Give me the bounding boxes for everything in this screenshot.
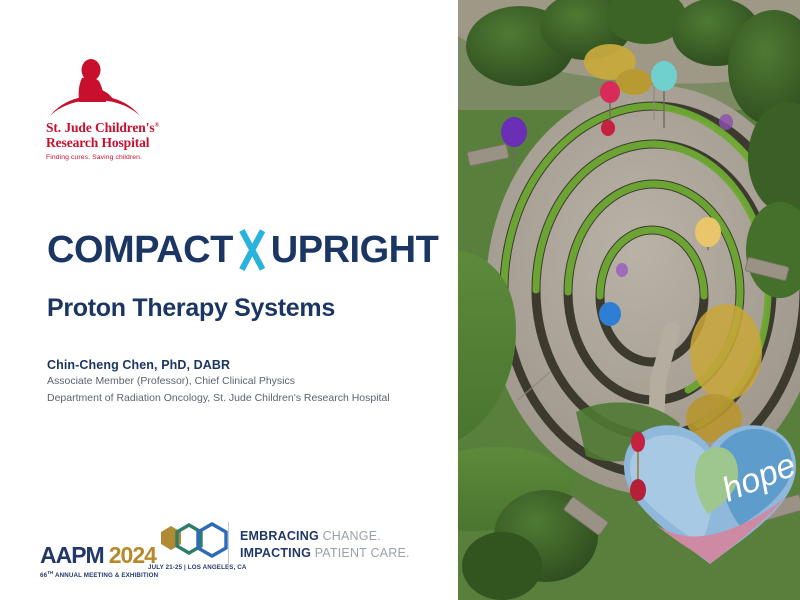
registered-mark-icon: ® [155,123,159,129]
stjude-logo: St. Jude Children's® Research Hospital F… [46,58,166,161]
title-block: COMPACT UPRIGHT Proton Therapy Systems [47,228,438,323]
stjude-wordmark: St. Jude Children's® Research Hospital [46,120,166,150]
presentation-slide: St. Jude Children's® Research Hospital F… [0,0,800,600]
slide-footer: AAPM 2024 66TH ANNUAL MEETING & EXHIBITI… [40,516,420,578]
slide-content-panel: St. Jude Children's® Research Hospital F… [0,0,458,600]
labyrinth-garden-illustration: hope [458,0,800,600]
title-part-upright: UPRIGHT [271,231,439,269]
author-block: Chin-Cheng Chen, PhD, DABR Associate Mem… [47,358,390,406]
stjude-child-silhouette-icon [46,58,166,118]
author-affiliation: Department of Radiation Oncology, St. Ju… [47,391,390,406]
tagline-line-2: IMPACTING PATIENT CARE. [240,545,410,562]
aapm-logo: AAPM 2024 66TH ANNUAL MEETING & EXHIBITI… [40,522,230,579]
x-cross-icon [234,228,270,272]
aapm-hexagons-icon [158,522,230,567]
author-name: Chin-Cheng Chen, PhD, DABR [47,358,390,372]
labyrinth-garden-photo: hope [458,0,800,600]
title-part-compact: COMPACT [47,231,233,269]
author-role: Associate Member (Professor), Chief Clin… [47,374,390,389]
aapm-dates-location: JULY 21-25 | LOS ANGELES, CA [148,564,247,571]
tagline-line-1: EMBRACING CHANGE. [240,528,410,545]
stjude-tagline: Finding cures. Saving children. [46,154,166,161]
stjude-name-line2: Research Hospital [46,135,149,150]
aapm-wordmark: AAPM [40,545,104,567]
aapm-meeting-label: 66TH ANNUAL MEETING & EXHIBITION [40,570,158,579]
page-subtitle: Proton Therapy Systems [47,294,438,323]
conference-tagline: EMBRACING CHANGE. IMPACTING PATIENT CARE… [240,528,410,562]
stjude-name-line1: St. Jude Children's [46,120,155,135]
footer-divider [228,522,229,570]
page-title: COMPACT UPRIGHT [47,228,438,272]
